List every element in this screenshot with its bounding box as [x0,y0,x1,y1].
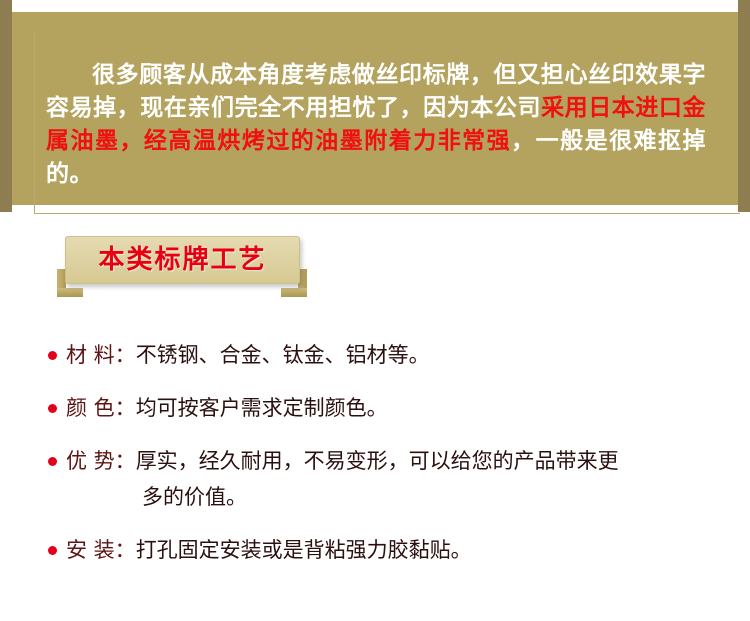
bullet-icon [48,457,57,466]
bullet-icon [48,351,57,360]
ribbon-bracket-left-horizontal [57,288,83,297]
banner-paragraph: 很多顾客从成本角度考虑做丝印标牌，但又担心丝印效果字容易掉，现在亲们完全不用担忧… [46,59,706,191]
list-item: 材 料：不锈钢、合金、钛金、铝材等。 [46,337,706,373]
spec-value-color: 均可按客户需求定制颜色。 [136,396,388,420]
spec-value-material: 不锈钢、合金、钛金、铝材等。 [136,343,430,367]
spec-label-installation: 安 装： [66,538,136,562]
list-item: 颜 色：均可按客户需求定制颜色。 [46,390,706,426]
banner-left-edge-strip [0,0,12,212]
spec-label-material: 材 料： [66,343,136,367]
bullet-icon [48,404,57,413]
section-title-ribbon: 本类标牌工艺 [57,236,307,286]
bullet-icon [48,546,57,555]
ribbon-bracket-right-horizontal [281,288,307,297]
product-description-page: 很多顾客从成本角度考虑做丝印标牌，但又担心丝印效果字容易掉，现在亲们完全不用担忧… [0,0,750,621]
spec-label-color: 颜 色： [66,396,136,420]
list-item: 安 装：打孔固定安装或是背粘强力胶黏贴。 [46,532,706,568]
spec-label-advantage: 优 势： [66,449,136,473]
banner-right-edge-strip [738,0,750,212]
spec-value-advantage: 厚实，经久耐用，不易变形，可以给您的产品带来更 [136,449,619,473]
section-title-text: 本类标牌工艺 [65,236,300,284]
spec-list: 材 料：不锈钢、合金、钛金、铝材等。 颜 色：均可按客户需求定制颜色。 优 势：… [46,337,706,568]
list-item: 优 势：厚实，经久耐用，不易变形，可以给您的产品带来更 多的价值。 [46,443,706,515]
spec-value-installation: 打孔固定安装或是背粘强力胶黏贴。 [136,538,472,562]
spec-value-advantage-continued: 多的价值。 [66,479,706,515]
gold-intro-banner: 很多顾客从成本角度考虑做丝印标牌，但又担心丝印效果字容易掉，现在亲们完全不用担忧… [0,0,750,216]
